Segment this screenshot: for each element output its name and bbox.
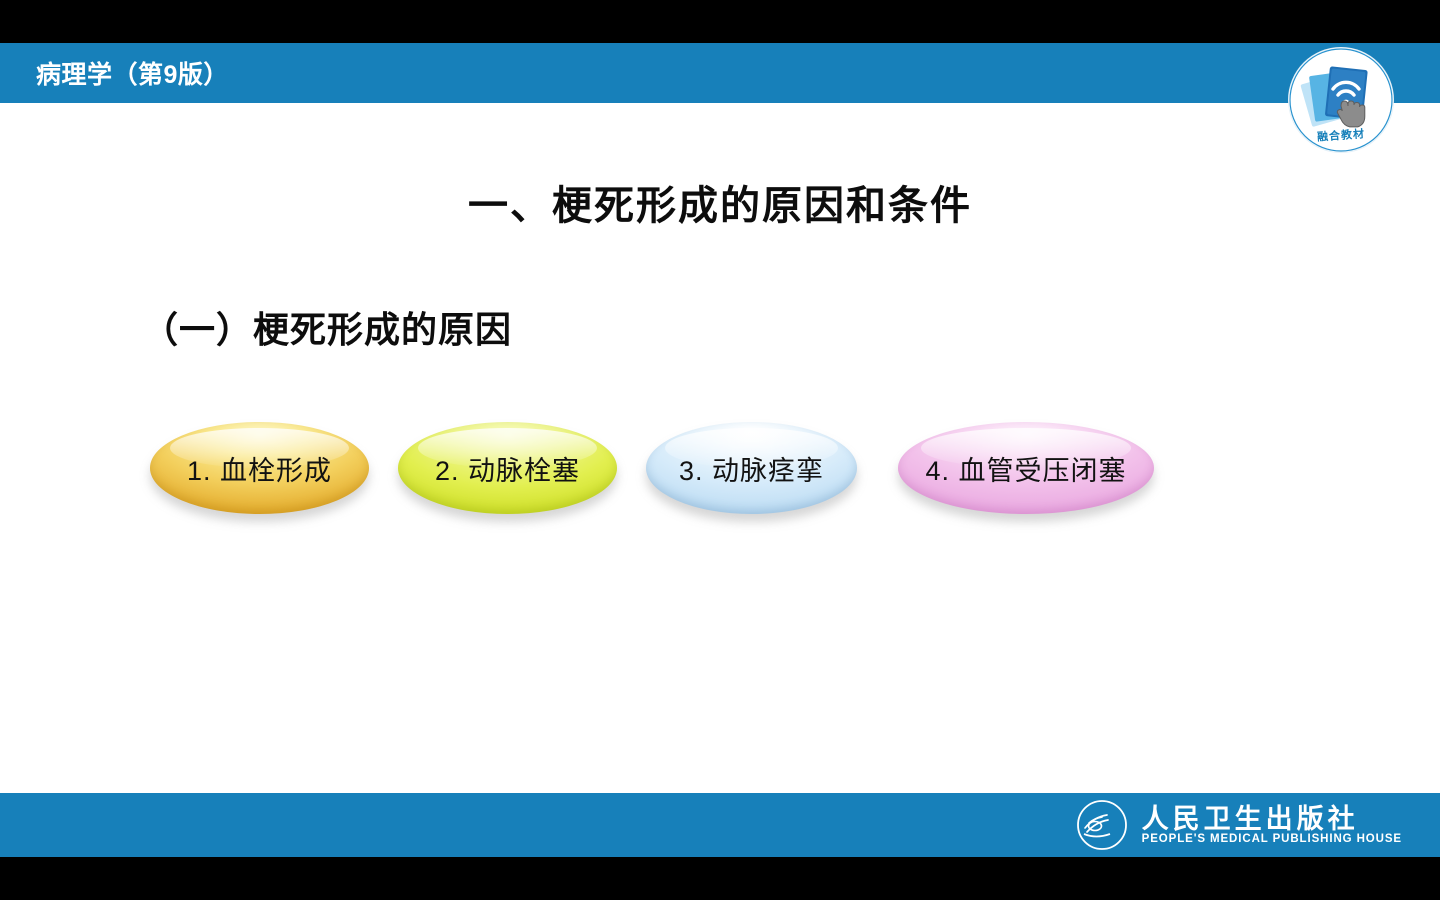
- cause-label: 1. 血栓形成: [187, 449, 332, 488]
- cause-oval-2[interactable]: 2. 动脉栓塞: [398, 422, 617, 514]
- cause-label: 2. 动脉栓塞: [435, 449, 580, 488]
- publisher-logo-group: 人民卫生出版社 PEOPLE'S MEDICAL PUBLISHING HOUS…: [1076, 799, 1402, 851]
- fusion-textbook-badge: 融合教材: [1289, 48, 1393, 152]
- cause-oval-1[interactable]: 1. 血栓形成: [150, 422, 369, 514]
- causes-group: 1. 血栓形成 2. 动脉栓塞 3. 动脉痉挛 4. 血管受压闭塞: [150, 422, 1200, 532]
- cause-label: 3. 动脉痉挛: [679, 449, 824, 488]
- pmph-wave-circle-icon: [1076, 799, 1128, 851]
- publisher-name-en: PEOPLE'S MEDICAL PUBLISHING HOUSE: [1142, 833, 1402, 845]
- cause-oval-3[interactable]: 3. 动脉痉挛: [646, 422, 857, 514]
- section-subtitle: （一）梗死形成的原因: [142, 301, 512, 353]
- cause-label: 4. 血管受压闭塞: [925, 449, 1126, 488]
- footer-bar: 人民卫生出版社 PEOPLE'S MEDICAL PUBLISHING HOUS…: [0, 793, 1440, 857]
- header-bar: 病理学（第9版）: [0, 43, 1440, 103]
- page-title: 一、梗死形成的原因和条件: [0, 173, 1440, 231]
- slide-canvas: 病理学（第9版）: [0, 43, 1440, 857]
- book-title: 病理学（第9版）: [36, 55, 229, 91]
- slide-root: 病理学（第9版）: [0, 0, 1440, 900]
- publisher-text: 人民卫生出版社 PEOPLE'S MEDICAL PUBLISHING HOUS…: [1142, 805, 1402, 845]
- cause-oval-4[interactable]: 4. 血管受压闭塞: [898, 422, 1154, 514]
- publisher-name-cn: 人民卫生出版社: [1142, 805, 1359, 833]
